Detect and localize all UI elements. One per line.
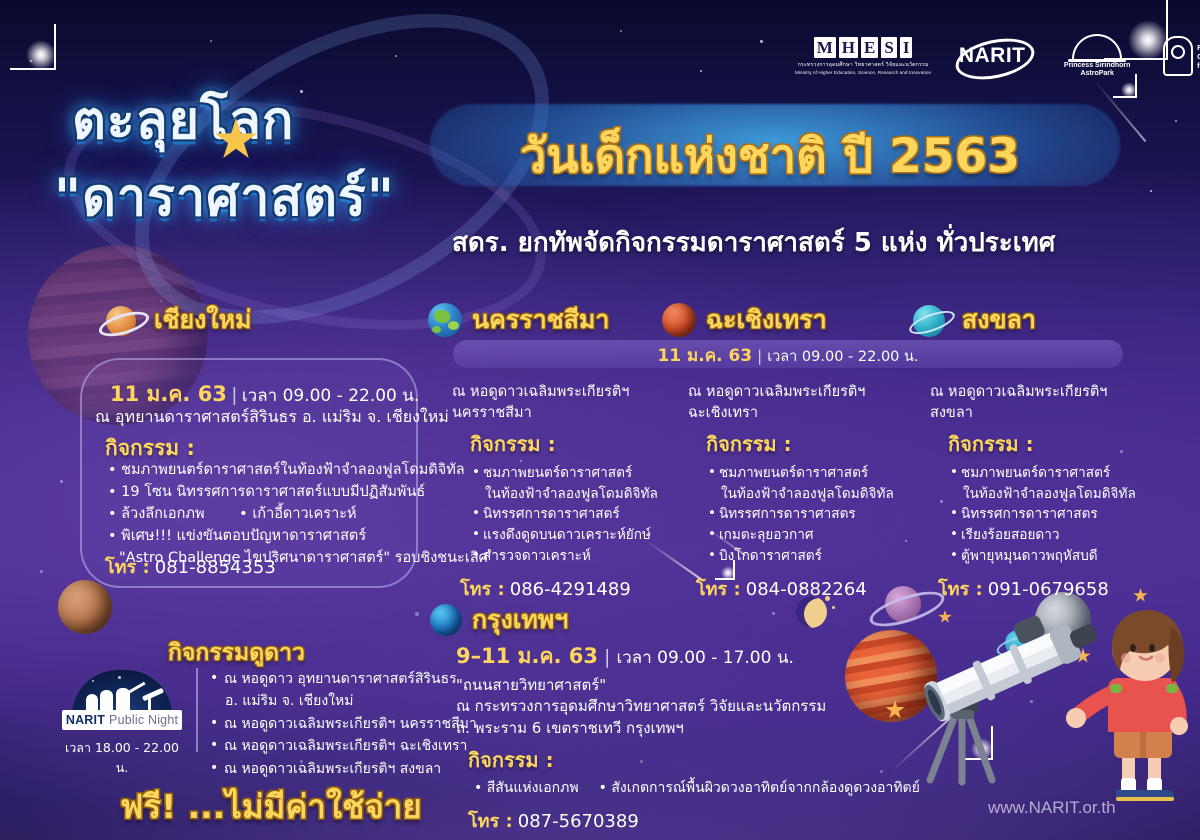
activity-text: สังเกตการณ์พื้นผิวดวงอาทิตย์จากกล้องดูดว… bbox=[611, 780, 920, 796]
boy-with-telescope-illustration bbox=[900, 600, 1200, 820]
stargazing-divider bbox=[196, 668, 198, 752]
column-chachoengsao: ณ หอดูดาวเฉลิมพระเกียรติฯ ฉะเชิงเทรา กิจ… bbox=[688, 382, 908, 603]
earth-icon bbox=[428, 303, 462, 337]
bangkok-activities-list: • สีสันแห่งเอกภพ• สังเกตการณ์พื้นผิวดวงอ… bbox=[474, 777, 940, 799]
narit-wordmark: NARIT bbox=[953, 36, 1031, 76]
activity-text: ชมภาพยนตร์ดาราศาสตร์ในท้องฟ้าจำลองฟูลโดม… bbox=[121, 462, 465, 478]
list-item: นิทรรศการดาราศาสตร bbox=[950, 504, 1160, 525]
activity-text: ชมภาพยนตร์ดาราศาสตร์ bbox=[961, 465, 1110, 481]
place-line: สงขลา bbox=[930, 403, 1160, 424]
venue-continuation: อ. แม่ริม จ. เชียงใหม่ bbox=[224, 690, 477, 712]
list-item: ณ หอดูดาวเฉลิมพระเกียรติฯ นครราชสีมา bbox=[210, 713, 477, 735]
tel-number: 081-8854353 bbox=[155, 557, 276, 578]
city-name-chiangmai: เชียงใหม่ bbox=[154, 300, 252, 340]
bangkok-date: 9–11 ม.ค. 63 bbox=[456, 644, 598, 668]
chiangmai-time: เวลา 09.00 - 22.00 น. bbox=[242, 386, 419, 406]
stargazing-hours: เวลา 18.00 - 22.00 น. bbox=[58, 738, 186, 778]
activity-text: นิทรรศการดาราศาสตร bbox=[719, 506, 856, 522]
city-heading-nakhonratchasima: นครราชสีมา bbox=[428, 300, 609, 340]
bangkok-place: "ถนนสายวิทยาศาสตร์" ณ กระทรวงการอุดมศึกษ… bbox=[456, 675, 940, 739]
column-nakhonratchasima: ณ หอดูดาวเฉลิมพระเกียรติฯ นครราชสีมา กิจ… bbox=[452, 382, 667, 603]
activity-text: นิทรรศการดาราศาสตร bbox=[961, 506, 1098, 522]
tel-number: 087-5670389 bbox=[518, 811, 639, 832]
list-item: • ชมภาพยนตร์ดาราศาสตร์ในท้องฟ้าจำลองฟูลโ… bbox=[108, 459, 428, 481]
list-item: ตู้พายุหมุนดาวพฤหัสบดี bbox=[950, 546, 1160, 567]
bangkok-datetime: 9–11 ม.ค. 63|เวลา 09.00 - 17.00 น. bbox=[456, 640, 940, 673]
place-line: ณ หอดูดาวเฉลิมพระเกียรติฯ bbox=[930, 382, 1160, 403]
subheadline-text: สดร. ยกทัพจัดกิจกรรมดาราศาสตร์ 5 แห่ง ทั… bbox=[452, 222, 1055, 263]
shared-date: 11 ม.ค. 63 bbox=[657, 346, 752, 366]
activity-text: ชมภาพยนตร์ดาราศาสตร์ bbox=[483, 465, 632, 481]
tel-label: โทร : bbox=[938, 579, 983, 600]
city-heading-chachoengsao: ฉะเชิงเทรา bbox=[662, 300, 827, 340]
tel-label: โทร : bbox=[468, 811, 513, 832]
activity-text: ตู้พายุหมุนดาวพฤหัสบดี bbox=[961, 548, 1098, 564]
headline-text: วันเด็กแห่งชาติ ปี 2563 bbox=[520, 118, 1020, 193]
tel-label: โทร : bbox=[105, 557, 150, 578]
activity-text: พิเศษ!!! แข่งขันตอบปัญหาดาราศาสตร์ bbox=[121, 528, 366, 544]
header-logos: M H E S I กระทรวงการอุดมศึกษา วิทยาศาสตร… bbox=[795, 34, 1200, 78]
public-night-wordmark: NARIT Public Night bbox=[62, 710, 182, 730]
city-name-chachoengsao: ฉะเชิงเทรา bbox=[706, 300, 827, 340]
activity-continuation: ในท้องฟ้าจำลองฟูลโดมดิจิทัล bbox=[961, 484, 1160, 505]
list-item: ชมภาพยนตร์ดาราศาสตร์ในท้องฟ้าจำลองฟูลโดม… bbox=[472, 463, 667, 504]
tel-number: 084-0882264 bbox=[746, 579, 867, 600]
activity-text: สีสันแห่งเอกภพ bbox=[487, 780, 579, 796]
shared-date-text: 11 ม.ค. 63|เวลา 09.00 - 22.00 น. bbox=[453, 342, 1123, 369]
songkhla-place: ณ หอดูดาวเฉลิมพระเกียรติฯ สงขลา bbox=[930, 382, 1160, 423]
bangkok-time: เวลา 09.00 - 17.00 น. bbox=[616, 648, 793, 668]
list-item: เกมตะลุยอวกาศ bbox=[708, 525, 908, 546]
tel-number: 091-0679658 bbox=[988, 579, 1109, 600]
activity-continuation: ในท้องฟ้าจำลองฟูลโดมดิจิทัล bbox=[719, 484, 908, 505]
activity-text: เกมตะลุยอวกาศ bbox=[719, 527, 814, 543]
list-item: นิทรรศการดาราศาสตร์ bbox=[472, 504, 667, 525]
city-name-bangkok: กรุงเทพฯ bbox=[472, 600, 568, 640]
list-item: นิทรรศการดาราศาสตร bbox=[708, 504, 908, 525]
activity-continuation: ในท้องฟ้าจำลองฟูลโดมดิจิทัล bbox=[483, 484, 667, 505]
bangkok-telephone[interactable]: โทร : 087-5670389 bbox=[468, 806, 940, 835]
column-songkhla: ณ หอดูดาวเฉลิมพระเกียรติฯ สงขลา กิจกรรม … bbox=[930, 382, 1160, 603]
bangkok-activities-label: กิจกรรม : bbox=[468, 744, 940, 776]
chiangmai-place: ณ อุทยานดาราศาสตร์สิรินธร อ. แม่ริม จ. เ… bbox=[95, 405, 449, 430]
list-item: • สังเกตการณ์พื้นผิวดวงอาทิตย์จากกล้องดู… bbox=[599, 780, 920, 796]
neptune-icon bbox=[430, 604, 462, 636]
chachoengsao-activities-list: ชมภาพยนตร์ดาราศาสตร์ในท้องฟ้าจำลองฟูลโดม… bbox=[708, 463, 908, 566]
list-item: • สีสันแห่งเอกภพ bbox=[474, 780, 579, 796]
list-item: แรงดึงดูดบนดาวเคราะห์ยักษ์ bbox=[472, 525, 667, 546]
mhesi-letter: S bbox=[881, 37, 896, 58]
chiangmai-date-separator: | bbox=[232, 385, 237, 406]
narit-logo: NARIT bbox=[953, 36, 1031, 76]
tel-number: 086-4291489 bbox=[510, 579, 631, 600]
list-item: เรียงร้อยสอยดาว bbox=[950, 525, 1160, 546]
place-line: นครราชสีมา bbox=[452, 403, 667, 424]
mhesi-logo: M H E S I กระทรวงการอุดมศึกษา วิทยาศาสตร… bbox=[795, 37, 931, 75]
mhesi-letter: E bbox=[861, 37, 878, 58]
venue-text: ณ หอดูดาวเฉลิมพระเกียรติฯ สงขลา bbox=[224, 761, 441, 777]
website-url[interactable]: www.NARIT.or.th bbox=[988, 798, 1116, 818]
mercury-background-planet bbox=[58, 580, 112, 634]
bangkok-date-separator: | bbox=[604, 646, 610, 668]
place-line: ณ หอดูดาวเฉลิมพระเกียรติฯ bbox=[688, 382, 908, 403]
observatory-dome-icon bbox=[1072, 34, 1122, 59]
list-item: • 19 โซน นิทรรศการดาราศาสตร์แบบมีปฏิสัมพ… bbox=[108, 481, 428, 503]
list-item: • พิเศษ!!! แข่งขันตอบปัญหาดาราศาสตร์ bbox=[108, 525, 428, 547]
nakhonratchasima-place: ณ หอดูดาวเฉลิมพระเกียรติฯ นครราชสีมา bbox=[452, 382, 667, 423]
list-item: • ล้วงลึกเอกภพ• เก้าอี้ดาวเคราะห์ bbox=[108, 503, 428, 525]
list-item: ชมภาพยนตร์ดาราศาสตร์ในท้องฟ้าจำลองฟูลโดม… bbox=[708, 463, 908, 504]
activity-text: บิงโกดาราศาสตร์ bbox=[719, 548, 822, 564]
column-bangkok: 9–11 ม.ค. 63|เวลา 09.00 - 17.00 น. "ถนนส… bbox=[456, 640, 940, 835]
tel-label: โทร : bbox=[696, 579, 741, 600]
poster-canvas: M H E S I กระทรวงการอุดมศึกษา วิทยาศาสตร… bbox=[0, 0, 1200, 840]
list-item: ณ หอดูดาวเฉลิมพระเกียรติฯ สงขลา bbox=[210, 758, 477, 780]
mhesi-letter: H bbox=[839, 37, 858, 58]
place-line: ณ หอดูดาวเฉลิมพระเกียรติฯ bbox=[452, 382, 667, 403]
place-line: ฉะเชิงเทรา bbox=[688, 403, 908, 424]
saturn-icon bbox=[98, 303, 144, 337]
mhesi-letter: M bbox=[814, 37, 836, 58]
activity-text: สำรวจดาวเคราะห์ bbox=[483, 548, 591, 564]
regional-observatories-logo: Regional Observatories for the Public bbox=[1163, 36, 1200, 76]
shared-time: เวลา 09.00 - 22.00 น. bbox=[767, 349, 918, 365]
list-item: ณ หอดูดาว อุทยานดาราศาสตร์สิรินธรอ. แม่ร… bbox=[210, 668, 477, 713]
free-admission-note: ฟรี! ...ไม่มีค่าใช้จ่าย bbox=[120, 780, 422, 833]
tel-label: โทร : bbox=[460, 579, 505, 600]
place-line: ถ. พระราม 6 เขตราชเทวี กรุงเทพฯ bbox=[456, 718, 940, 739]
place-line: "ถนนสายวิทยาศาสตร์" bbox=[456, 675, 940, 696]
activity-text: เก้าอี้ดาวเคราะห์ bbox=[252, 506, 356, 522]
stargazing-title: กิจกรรมดูดาว bbox=[168, 635, 305, 671]
mhesi-thai-name: กระทรวงการอุดมศึกษา วิทยาศาสตร์ วิจัยและ… bbox=[795, 61, 931, 69]
mars-icon bbox=[662, 303, 696, 337]
shared-date-separator: | bbox=[757, 347, 762, 365]
mhesi-letter: I bbox=[900, 37, 913, 58]
place-line: ณ กระทรวงการอุดมศึกษาวิทยาศาสตร์ วิจัยแล… bbox=[456, 696, 940, 717]
astropark-line1: Princess Sirindhorn bbox=[1053, 62, 1141, 70]
city-heading-songkhla: สงขลา bbox=[908, 300, 1036, 340]
activity-text: ล้วงลึกเอกภพ bbox=[121, 503, 239, 525]
astropark-logo: Princess Sirindhorn AstroPark bbox=[1053, 34, 1141, 78]
city-heading-chiangmai: เชียงใหม่ bbox=[98, 300, 252, 340]
songkhla-activities-list: ชมภาพยนตร์ดาราศาสตร์ในท้องฟ้าจำลองฟูลโดม… bbox=[950, 463, 1160, 566]
narit-public-night-logo: NARIT Public Night bbox=[62, 670, 182, 732]
uranus-icon bbox=[908, 302, 952, 338]
list-item: บิงโกดาราศาสตร์ bbox=[708, 546, 908, 567]
nakhonratchasima-activities-list: ชมภาพยนตร์ดาราศาสตร์ในท้องฟ้าจำลองฟูลโดม… bbox=[472, 463, 667, 566]
public-night-label: Public Night bbox=[109, 713, 178, 727]
activity-text: เรียงร้อยสอยดาว bbox=[961, 527, 1060, 543]
chachoengsao-place: ณ หอดูดาวเฉลิมพระเกียรติฯ ฉะเชิงเทรา bbox=[688, 382, 908, 423]
nakhonratchasima-activities-label: กิจกรรม : bbox=[470, 428, 667, 460]
activity-text: แรงดึงดูดบนดาวเคราะห์ยักษ์ bbox=[483, 527, 651, 543]
venue-text: ณ หอดูดาวเฉลิมพระเกียรติฯ นครราชสีมา bbox=[224, 716, 477, 732]
stargazing-venues-list: ณ หอดูดาว อุทยานดาราศาสตร์สิรินธรอ. แม่ร… bbox=[210, 668, 477, 780]
activity-text: นิทรรศการดาราศาสตร์ bbox=[483, 506, 620, 522]
mhesi-english-name: Ministry of Higher Education, Science, R… bbox=[795, 70, 931, 75]
activity-text: 19 โซน นิทรรศการดาราศาสตร์แบบมีปฏิสัมพัน… bbox=[121, 484, 425, 500]
city-name-songkhla: สงขลา bbox=[962, 300, 1036, 340]
chachoengsao-telephone[interactable]: โทร : 084-0882264 bbox=[696, 574, 908, 603]
city-heading-bangkok: กรุงเทพฯ bbox=[430, 600, 568, 640]
city-name-nakhonratchasima: นครราชสีมา bbox=[472, 300, 609, 340]
chiangmai-telephone[interactable]: โทร : 081-8854353 bbox=[105, 552, 276, 581]
telescope-mark-icon bbox=[1163, 36, 1193, 76]
activity-text: ชมภาพยนตร์ดาราศาสตร์ bbox=[719, 465, 868, 481]
songkhla-activities-label: กิจกรรม : bbox=[948, 428, 1160, 460]
list-item: ณ หอดูดาวเฉลิมพระเกียรติฯ ฉะเชิงเทรา bbox=[210, 735, 477, 757]
list-item: สำรวจดาวเคราะห์ bbox=[472, 546, 667, 567]
narit-brand: NARIT bbox=[66, 713, 105, 727]
venue-text: ณ หอดูดาว อุทยานดาราศาสตร์สิรินธร bbox=[224, 671, 457, 687]
astropark-line2: AstroPark bbox=[1053, 70, 1141, 78]
chiangmai-date: 11 ม.ค. 63 bbox=[110, 382, 227, 406]
chachoengsao-activities-label: กิจกรรม : bbox=[706, 428, 908, 460]
venue-text: ณ หอดูดาวเฉลิมพระเกียรติฯ ฉะเชิงเทรา bbox=[224, 738, 467, 754]
list-item: ชมภาพยนตร์ดาราศาสตร์ในท้องฟ้าจำลองฟูลโดม… bbox=[950, 463, 1160, 504]
